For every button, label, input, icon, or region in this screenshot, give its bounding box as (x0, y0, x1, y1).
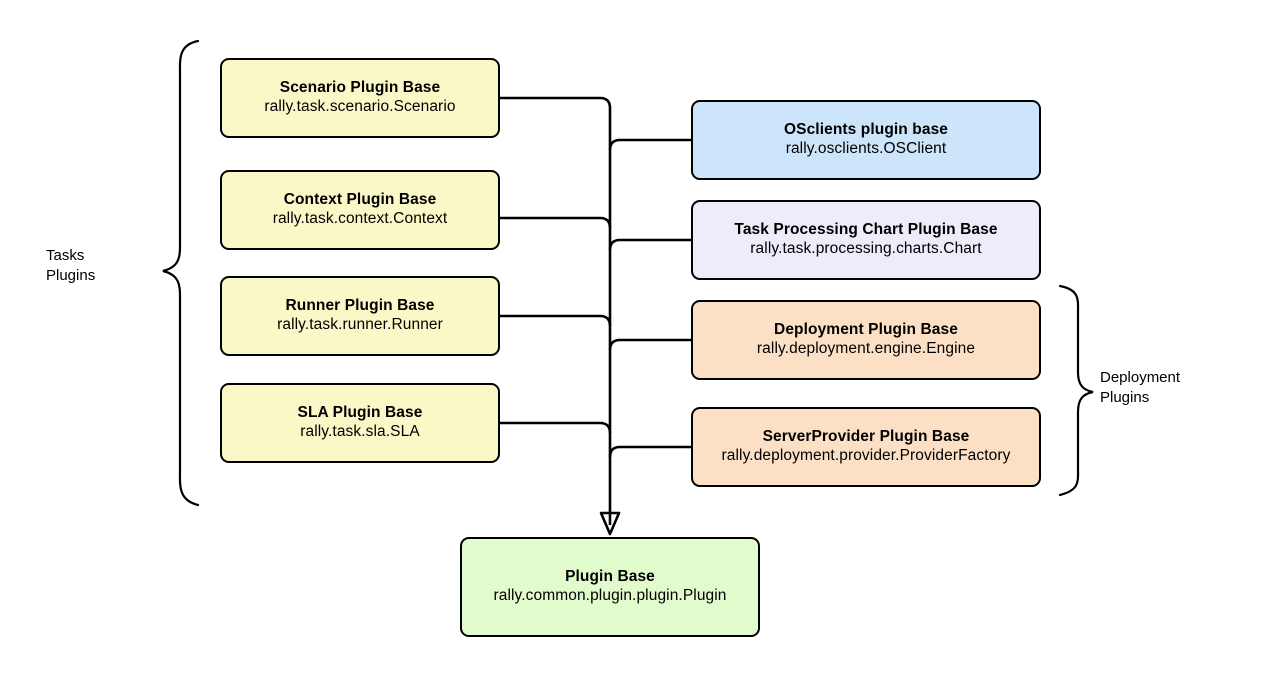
node-title: SLA Plugin Base (298, 404, 423, 423)
node-runner-plugin-base[interactable]: Runner Plugin Base rally.task.runner.Run… (220, 276, 500, 356)
node-path: rally.task.scenario.Scenario (264, 98, 455, 117)
node-serverprovider-plugin-base[interactable]: ServerProvider Plugin Base rally.deploym… (691, 407, 1041, 487)
group-label-tasks-plugins: Tasks Plugins (46, 246, 95, 286)
diagram-canvas: Tasks Plugins Deployment Plugins Scenari… (0, 0, 1281, 680)
node-path: rally.common.plugin.plugin.Plugin (493, 587, 726, 606)
node-title: OSclients plugin base (784, 121, 948, 140)
node-title: Task Processing Chart Plugin Base (734, 221, 997, 240)
node-path: rally.deployment.provider.ProviderFactor… (722, 447, 1011, 466)
node-plugin-base[interactable]: Plugin Base rally.common.plugin.plugin.P… (460, 537, 760, 637)
node-deployment-plugin-base[interactable]: Deployment Plugin Base rally.deployment.… (691, 300, 1041, 380)
node-path: rally.task.runner.Runner (277, 316, 443, 335)
node-title: ServerProvider Plugin Base (763, 428, 970, 447)
node-path: rally.deployment.engine.Engine (757, 340, 975, 359)
node-title: Scenario Plugin Base (280, 79, 441, 98)
node-title: Deployment Plugin Base (774, 321, 958, 340)
node-path: rally.osclients.OSClient (786, 140, 947, 159)
node-title: Context Plugin Base (284, 191, 437, 210)
brace-icon-right (1060, 286, 1093, 495)
node-osclients-plugin-base[interactable]: OSclients plugin base rally.osclients.OS… (691, 100, 1041, 180)
node-task-processing-chart-plugin-base[interactable]: Task Processing Chart Plugin Base rally.… (691, 200, 1041, 280)
node-path: rally.task.context.Context (273, 210, 448, 229)
node-scenario-plugin-base[interactable]: Scenario Plugin Base rally.task.scenario… (220, 58, 500, 138)
node-title: Plugin Base (565, 568, 655, 587)
node-context-plugin-base[interactable]: Context Plugin Base rally.task.context.C… (220, 170, 500, 250)
group-label-deployment-plugins: Deployment Plugins (1100, 368, 1180, 408)
node-sla-plugin-base[interactable]: SLA Plugin Base rally.task.sla.SLA (220, 383, 500, 463)
node-title: Runner Plugin Base (285, 297, 434, 316)
node-path: rally.task.processing.charts.Chart (750, 240, 981, 259)
node-path: rally.task.sla.SLA (300, 423, 420, 442)
